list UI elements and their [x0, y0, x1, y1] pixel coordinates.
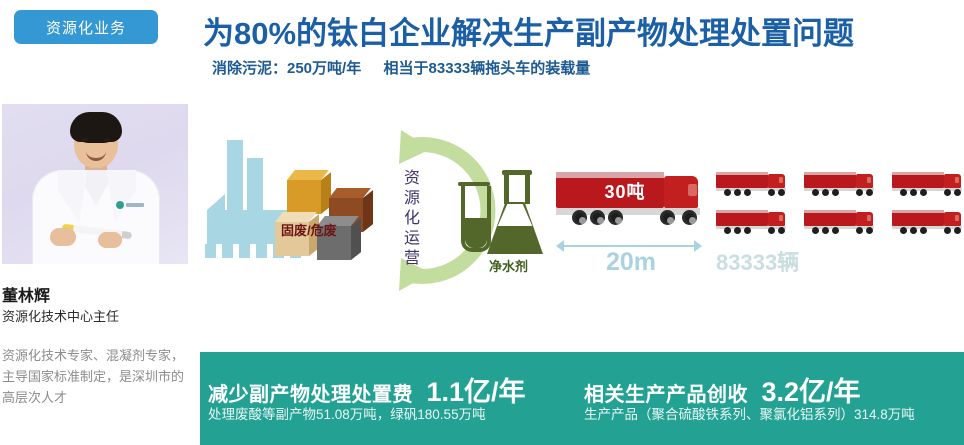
stats-band: 减少副产物处理处置费 1.1亿/年 处理废酸等副产物51.08万吨，绿矾180.… [200, 352, 964, 445]
waste-input-label: 固废/危废 [281, 220, 337, 239]
person-photo [2, 104, 188, 264]
mini-truck [804, 210, 876, 236]
mini-truck [892, 172, 964, 198]
page-subtitle: 消除污泥：250万吨/年 相当于83333辆拖头车的装载量 [212, 57, 952, 78]
waste-box-orange [287, 170, 331, 214]
subtitle-sludge: 消除污泥：250万吨/年 [212, 60, 361, 77]
stat-note: 处理废酸等副产物51.08万吨，绿矾180.55万吨 [208, 403, 486, 423]
hand-right [98, 232, 122, 248]
mini-truck [716, 172, 788, 198]
subtitle-equivalent: 相当于83333辆拖头车的装载量 [384, 60, 591, 77]
person-role: 资源化技术中心主任 [2, 306, 119, 325]
truck-count-label: 83333辆 [716, 245, 866, 277]
erlenmeyer-icon [487, 174, 543, 254]
stat-note: 生产产品（聚合硫酸铁系列、聚氯化铝系列）314.8万吨 [584, 403, 915, 423]
water-purifier-label: 净水剂 [489, 256, 528, 275]
waste-boxes-icon [275, 170, 395, 266]
truck-dimension-label: 20m [556, 248, 706, 277]
stat-card-revenue: 相关生产产品创收 3.2亿/年 生产产品（聚合硫酸铁系列、聚氯化铝系列）314.… [584, 352, 964, 445]
coat-logo [116, 200, 146, 210]
stat-card-cost-reduction: 减少副产物处理处置费 1.1亿/年 处理废酸等副产物51.08万吨，绿矾180.… [208, 352, 578, 445]
hair [70, 112, 122, 142]
section-badge: 资源化业务 [14, 10, 158, 44]
mini-truck [716, 210, 788, 236]
hand-left [50, 228, 76, 246]
truck-capacity-label: 30吨 [590, 178, 660, 204]
trucks-illustration: 30吨 20m [548, 160, 964, 295]
big-truck-icon: 30吨 [556, 172, 706, 230]
eye-left [81, 138, 88, 141]
mini-truck [804, 172, 876, 198]
eye-right [103, 138, 110, 141]
slide-root: 资源化业务 为80%的钛白企业解决生产副产物处理处置问题 消除污泥：250万吨/… [0, 0, 964, 445]
person-name: 董林辉 [2, 282, 50, 306]
cycle-center-label: 资源化运营 [395, 154, 421, 284]
mini-truck-grid [716, 172, 964, 250]
recycling-diagram: 固废/危废 资源化运营 净水剂 [205, 118, 565, 303]
flask-icon: 净水剂 [455, 170, 549, 274]
section-badge-label: 资源化业务 [46, 17, 126, 38]
person-description: 资源化技术专家、混凝剂专家，主导国家标准制定，是深圳市的高层次人才 [2, 345, 186, 408]
page-title: 为80%的钛白企业解决生产副产物处理处置问题 [203, 8, 943, 53]
mini-truck [892, 210, 964, 236]
